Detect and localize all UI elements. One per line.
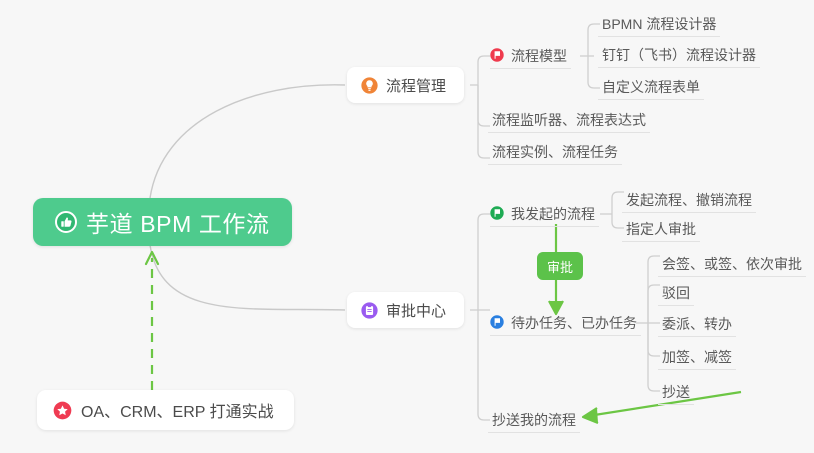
node-process-instance-task[interactable]: 流程实例、流程任务 — [488, 138, 622, 165]
detached-node-oa-crm-erp[interactable]: OA、CRM、ERP 打通实战 — [37, 390, 294, 430]
flag-icon — [490, 315, 504, 329]
leaf-label-start-cancel-process: 发起流程、撤销流程 — [626, 192, 752, 208]
leaf-label-add-remove-sign: 加签、减签 — [662, 349, 732, 365]
node-process-listener-expression[interactable]: 流程监听器、流程表达式 — [488, 106, 650, 133]
star-icon — [53, 401, 72, 420]
leaf-carbon-copy[interactable]: 抄送 — [658, 378, 694, 405]
leaf-label-dingtalk-designer: 钉钉（飞书）流程设计器 — [602, 47, 756, 63]
node-todo-done-tasks[interactable]: 待办任务、已办任务 — [490, 309, 641, 336]
node-my-initiated-processes[interactable]: 我发起的流程 — [490, 200, 599, 227]
leaf-reject[interactable]: 驳回 — [658, 279, 694, 306]
leaf-start-cancel-process[interactable]: 发起流程、撤销流程 — [622, 186, 756, 213]
annotation-tag-label: 审批 — [547, 257, 573, 276]
leaf-assigned-approver[interactable]: 指定人审批 — [622, 215, 700, 242]
wire-pm-to-model — [478, 56, 490, 85]
wire-ac-to-mine — [478, 214, 490, 310]
root-node[interactable]: 芋道 BPM 工作流 — [33, 198, 292, 246]
node-label-todo-done-tasks: 待办任务、已办任务 — [511, 315, 637, 331]
leaf-delegate-transfer[interactable]: 委派、转办 — [658, 310, 736, 337]
branch-label-approval-center: 审批中心 — [386, 300, 446, 321]
lightbulb-icon — [361, 77, 378, 94]
flag-icon — [490, 206, 504, 220]
node-label-my-initiated-processes: 我发起的流程 — [511, 206, 595, 222]
branch-node-approval-center[interactable]: 审批中心 — [347, 292, 464, 328]
branch-label-process-management: 流程管理 — [386, 75, 446, 96]
flag-icon — [490, 48, 504, 62]
node-label-process-listener-expression: 流程监听器、流程表达式 — [492, 112, 646, 128]
leaf-add-remove-sign[interactable]: 加签、减签 — [658, 343, 736, 370]
leaf-label-assigned-approver: 指定人审批 — [626, 221, 696, 237]
leaf-label-reject: 驳回 — [662, 285, 690, 301]
leaf-label-custom-form: 自定义流程表单 — [602, 79, 700, 95]
branch-node-process-management[interactable]: 流程管理 — [347, 67, 464, 103]
mindmap-canvas: 芋道 BPM 工作流 OA、CRM、ERP 打通实战 流程管理 — [0, 0, 814, 453]
node-label-processes-copied-to-me: 抄送我的流程 — [492, 412, 576, 428]
wire-root-to-approval-center — [150, 245, 345, 310]
leaf-custom-form[interactable]: 自定义流程表单 — [598, 73, 704, 100]
wire-root-to-process-mgmt — [150, 85, 345, 198]
node-processes-copied-to-me[interactable]: 抄送我的流程 — [488, 406, 580, 433]
detached-node-label: OA、CRM、ERP 打通实战 — [81, 398, 274, 422]
leaf-countersign-modes[interactable]: 会签、或签、依次审批 — [658, 250, 806, 277]
node-label-process-instance-task: 流程实例、流程任务 — [492, 144, 618, 160]
clipboard-icon — [361, 302, 378, 319]
leaf-label-countersign-modes: 会签、或签、依次审批 — [662, 256, 802, 272]
leaf-label-bpmn-designer: BPMN 流程设计器 — [602, 16, 716, 32]
leaf-label-carbon-copy: 抄送 — [662, 384, 690, 400]
leaf-label-delegate-transfer: 委派、转办 — [662, 316, 732, 332]
node-process-model[interactable]: 流程模型 — [490, 42, 571, 69]
thumbs-up-icon — [55, 211, 77, 233]
annotation-tag-approval[interactable]: 审批 — [537, 252, 583, 280]
leaf-dingtalk-designer[interactable]: 钉钉（飞书）流程设计器 — [598, 41, 760, 68]
root-label: 芋道 BPM 工作流 — [86, 205, 270, 239]
annotation-dashed-arrow — [146, 252, 158, 390]
wire-ac-to-copied — [478, 310, 490, 420]
node-label-process-model: 流程模型 — [511, 48, 567, 64]
leaf-bpmn-designer[interactable]: BPMN 流程设计器 — [598, 10, 720, 37]
